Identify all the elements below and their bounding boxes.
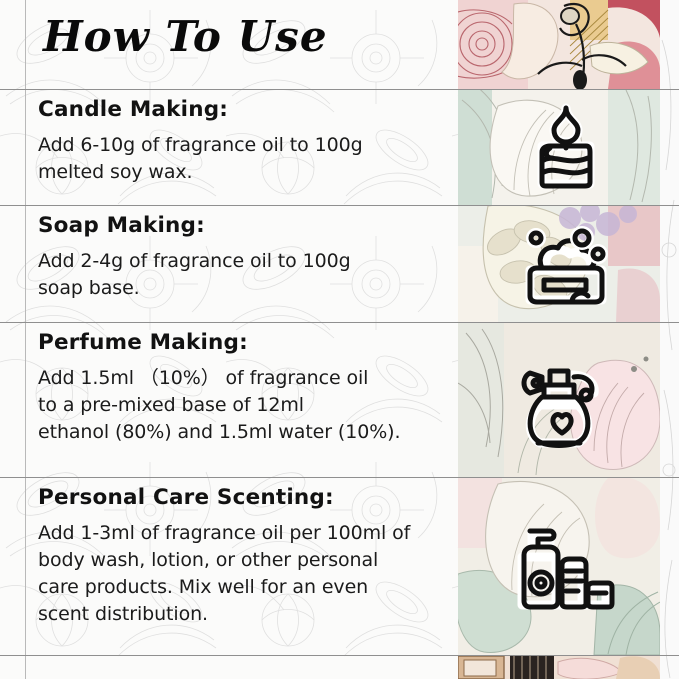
body-line: to a pre-mixed base of 12ml	[38, 392, 448, 419]
body-line: Add 6-10g of fragrance oil to 100g	[38, 132, 448, 159]
section-soap-making: Soap Making: Add 2-4g of fragrance oil t…	[38, 214, 448, 302]
photo-band-framed-bloom	[458, 656, 660, 679]
section-divider	[0, 322, 679, 323]
photo-band-leaves-and-blossom	[458, 478, 660, 655]
body-line: soap base.	[38, 275, 448, 302]
section-body: Add 6-10g of fragrance oil to 100g melte…	[38, 132, 448, 186]
body-line: melted soy wax.	[38, 159, 448, 186]
body-line: Add 1-3ml of fragrance oil per 100ml of	[38, 520, 448, 547]
section-body: Add 2-4g of fragrance oil to 100g soap b…	[38, 248, 448, 302]
body-line: Add 2-4g of fragrance oil to 100g	[38, 248, 448, 275]
section-divider	[0, 89, 679, 90]
body-line: Add 1.5ml （10%） of fragrance oil	[38, 365, 448, 392]
section-body: Add 1-3ml of fragrance oil per 100ml of …	[38, 520, 448, 628]
instructions-column: How To Use Candle Making: Add 6-10g of f…	[0, 0, 458, 679]
page-title: How To Use	[43, 12, 328, 61]
body-line: body wash, lotion, or other personal	[38, 547, 448, 574]
section-candle-making: Candle Making: Add 6-10g of fragrance oi…	[38, 98, 448, 186]
section-heading: Candle Making:	[38, 98, 448, 123]
photo-band-pale-blossom-sage	[458, 90, 660, 205]
section-heading: Perfume Making:	[38, 331, 448, 356]
section-personal-care-scenting: Personal Care Scenting: Add 1-3ml of fra…	[38, 486, 448, 628]
section-heading: Soap Making:	[38, 214, 448, 239]
section-body: Add 1.5ml （10%） of fragrance oil to a pr…	[38, 365, 448, 446]
right-edge-strip	[660, 0, 679, 679]
how-to-use-infographic: How To Use Candle Making: Add 6-10g of f…	[0, 0, 679, 679]
section-heading: Personal Care Scenting:	[38, 486, 448, 511]
photo-band-roses-and-dragonfly	[458, 0, 660, 89]
body-line: care products. Mix well for an even	[38, 574, 448, 601]
section-perfume-making: Perfume Making: Add 1.5ml （10%） of fragr…	[38, 331, 448, 446]
section-divider	[0, 205, 679, 206]
photo-band-cream-petals-lilac	[458, 206, 660, 322]
body-line: scent distribution.	[38, 601, 448, 628]
section-divider	[0, 477, 679, 478]
body-line: ethanol (80%) and 1.5ml water (10%).	[38, 419, 448, 446]
photo-band-magnolia-pink-bloom	[458, 323, 660, 477]
left-margin-rule	[25, 0, 26, 679]
section-divider	[0, 655, 679, 656]
botanical-photo-column	[458, 0, 660, 679]
